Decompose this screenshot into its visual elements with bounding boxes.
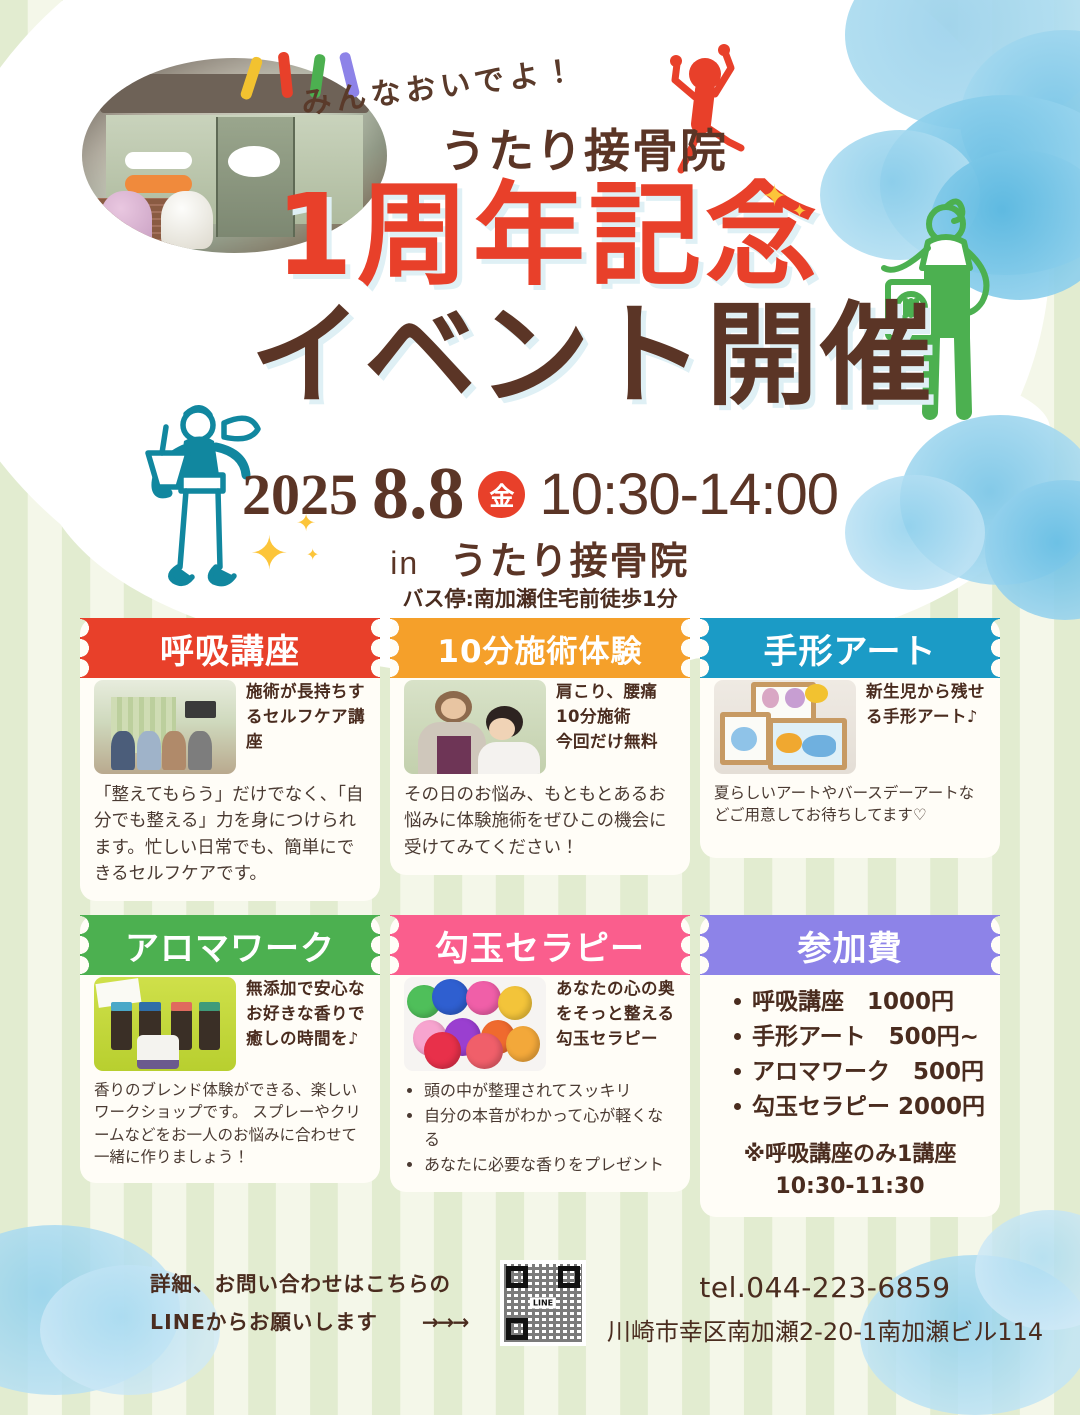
footer: 詳細、お問い合わせはこちらの LINEからお願いします →→→ LINE tel…	[0, 1258, 1080, 1350]
ribbon-label: 呼吸講座	[160, 624, 300, 673]
ribbon-label: 勾玉セラピー	[435, 921, 645, 970]
title-anniversary: 1周年記念	[275, 180, 821, 292]
card-lead: 新生児から残せる手形アート♪	[866, 680, 986, 730]
telephone-number[interactable]: tel.044-223-6859	[590, 1264, 1060, 1312]
ribbon-label: 手形アート	[764, 624, 937, 673]
arrow-right-icon: →→→	[422, 1304, 468, 1342]
price-item: 呼吸講座 1000円	[730, 985, 986, 1020]
footer-text-line-2: LINEからお願いします	[150, 1304, 378, 1342]
card-magatama: 勾玉セラピー あなたの心の奥をそっと整える勾玉セラピー	[390, 915, 690, 1217]
price-item: アロマワーク 500円	[730, 1055, 986, 1090]
footer-line-contact: 詳細、お問い合わせはこちらの LINEからお願いします →→→	[150, 1266, 530, 1342]
event-time: 10:30-14:00	[539, 461, 838, 528]
event-dateline: 2025 8.8 金 10:30-14:00	[0, 452, 1080, 537]
address: 川崎市幸区南加瀬2-20-1南加瀬ビル114	[590, 1312, 1060, 1353]
list-item: あなたに必要な香りをプレゼント	[424, 1153, 676, 1177]
price-item: 勾玉セラピー 2000円	[730, 1090, 986, 1125]
card-bullet-list: 頭の中が整理されてスッキリ 自分の本音がわかって心が軽くなる あなたに必要な香り…	[408, 1079, 676, 1177]
card-description: 香りのブレンド体験ができる、楽しいワークショップです。 スプレーやクリームなどを…	[94, 1079, 366, 1169]
card-lead: 施術が長持ちするセルフケア講座	[246, 680, 366, 754]
footer-contact-block: tel.044-223-6859 川崎市幸区南加瀬2-20-1南加瀬ビル114	[590, 1264, 1060, 1353]
card-treatment: 10分施術体験 肩こり、腰痛 10分施術 今回だけ無料 その日のお悩み、もともと…	[390, 618, 690, 901]
price-note-line-1: ※呼吸講座のみ1講座	[714, 1139, 986, 1171]
program-card-grid: 呼吸講座 施術が長持ちするセルフケア講座 「整えてもらう」だけでなく、「自分でも…	[80, 618, 1000, 1217]
ribbon-treatment: 10分施術体験	[390, 618, 690, 678]
card-lead: 肩こり、腰痛 10分施術 今回だけ無料	[556, 680, 676, 754]
venue-name: うたり接骨院	[450, 539, 690, 583]
event-day-of-week-badge: 金	[478, 471, 525, 518]
card-breathing: 呼吸講座 施術が長持ちするセルフケア講座 「整えてもらう」だけでなく、「自分でも…	[80, 618, 380, 901]
card-aroma: アロマワーク 無添加で安心なお好きな香りで癒しの時間を♪ 香りのブレンド体験がで…	[80, 915, 380, 1217]
list-item: 頭の中が整理されてスッキリ	[424, 1079, 676, 1103]
ribbon-handprint: 手形アート	[700, 618, 1000, 678]
ribbon-breathing: 呼吸講座	[80, 618, 380, 678]
treatment-photo	[404, 680, 546, 774]
event-access-note: バス停:南加瀬住宅前徒歩1分	[0, 583, 1080, 613]
ribbon-price: 参加費	[700, 915, 1000, 975]
card-description: 「整えてもらう」だけでなく、「自分でも整える」力を身につけられます。忙しい日常で…	[94, 782, 366, 887]
magatama-beads-photo	[404, 977, 546, 1071]
title-event: イベント開催	[250, 300, 934, 412]
qr-label: LINE	[530, 1298, 556, 1309]
card-handprint: 手形アート 新生児から残せる手形アート♪ 夏らしいアートやバースデーアートなどご…	[700, 618, 1000, 901]
price-note-line-2: 10:30-11:30	[714, 1171, 986, 1203]
list-item: 自分の本音がわかって心が軽くなる	[424, 1104, 676, 1152]
card-price: 参加費 呼吸講座 1000円 手形アート 500円~ アロマワーク 500円 勾…	[700, 915, 1000, 1217]
handprint-art-photo	[714, 680, 856, 774]
sparkle-icon: ✦	[250, 530, 289, 576]
footer-text-line-1: 詳細、お問い合わせはこちらの	[150, 1266, 530, 1304]
price-item: 手形アート 500円~	[730, 1020, 986, 1055]
ribbon-aroma: アロマワーク	[80, 915, 380, 975]
price-note: ※呼吸講座のみ1講座 10:30-11:30	[714, 1139, 986, 1203]
ribbon-label: アロマワーク	[125, 921, 335, 970]
venue-prefix: in	[390, 545, 419, 581]
card-lead: あなたの心の奥をそっと整える勾玉セラピー	[556, 977, 676, 1051]
card-lead: 無添加で安心なお好きな香りで癒しの時間を♪	[246, 977, 366, 1051]
aroma-oils-photo	[94, 977, 236, 1071]
sparkle-icon: ✦	[306, 548, 319, 564]
event-date: 8.8	[372, 452, 465, 537]
sparkle-icon: ✦	[762, 182, 787, 212]
card-description: 夏らしいアートやバースデーアートなどご用意してお待ちしてます♡	[714, 782, 986, 827]
card-description: その日のお悩み、もともとあるお悩みに体験施術をぜひこの機会に受けてみてください！	[404, 782, 676, 861]
sparkle-icon: ✦	[792, 202, 807, 220]
line-qr-code[interactable]: LINE	[500, 1260, 586, 1346]
ribbon-label: 10分施術体験	[437, 626, 642, 671]
ribbon-magatama: 勾玉セラピー	[390, 915, 690, 975]
ribbon-label: 参加費	[798, 921, 903, 970]
event-venue: in うたり接骨院	[0, 530, 1080, 585]
seminar-room-photo	[94, 680, 236, 774]
price-list: 呼吸講座 1000円 手形アート 500円~ アロマワーク 500円 勾玉セラピ…	[730, 985, 986, 1125]
sparkle-icon: ✦	[296, 512, 316, 536]
